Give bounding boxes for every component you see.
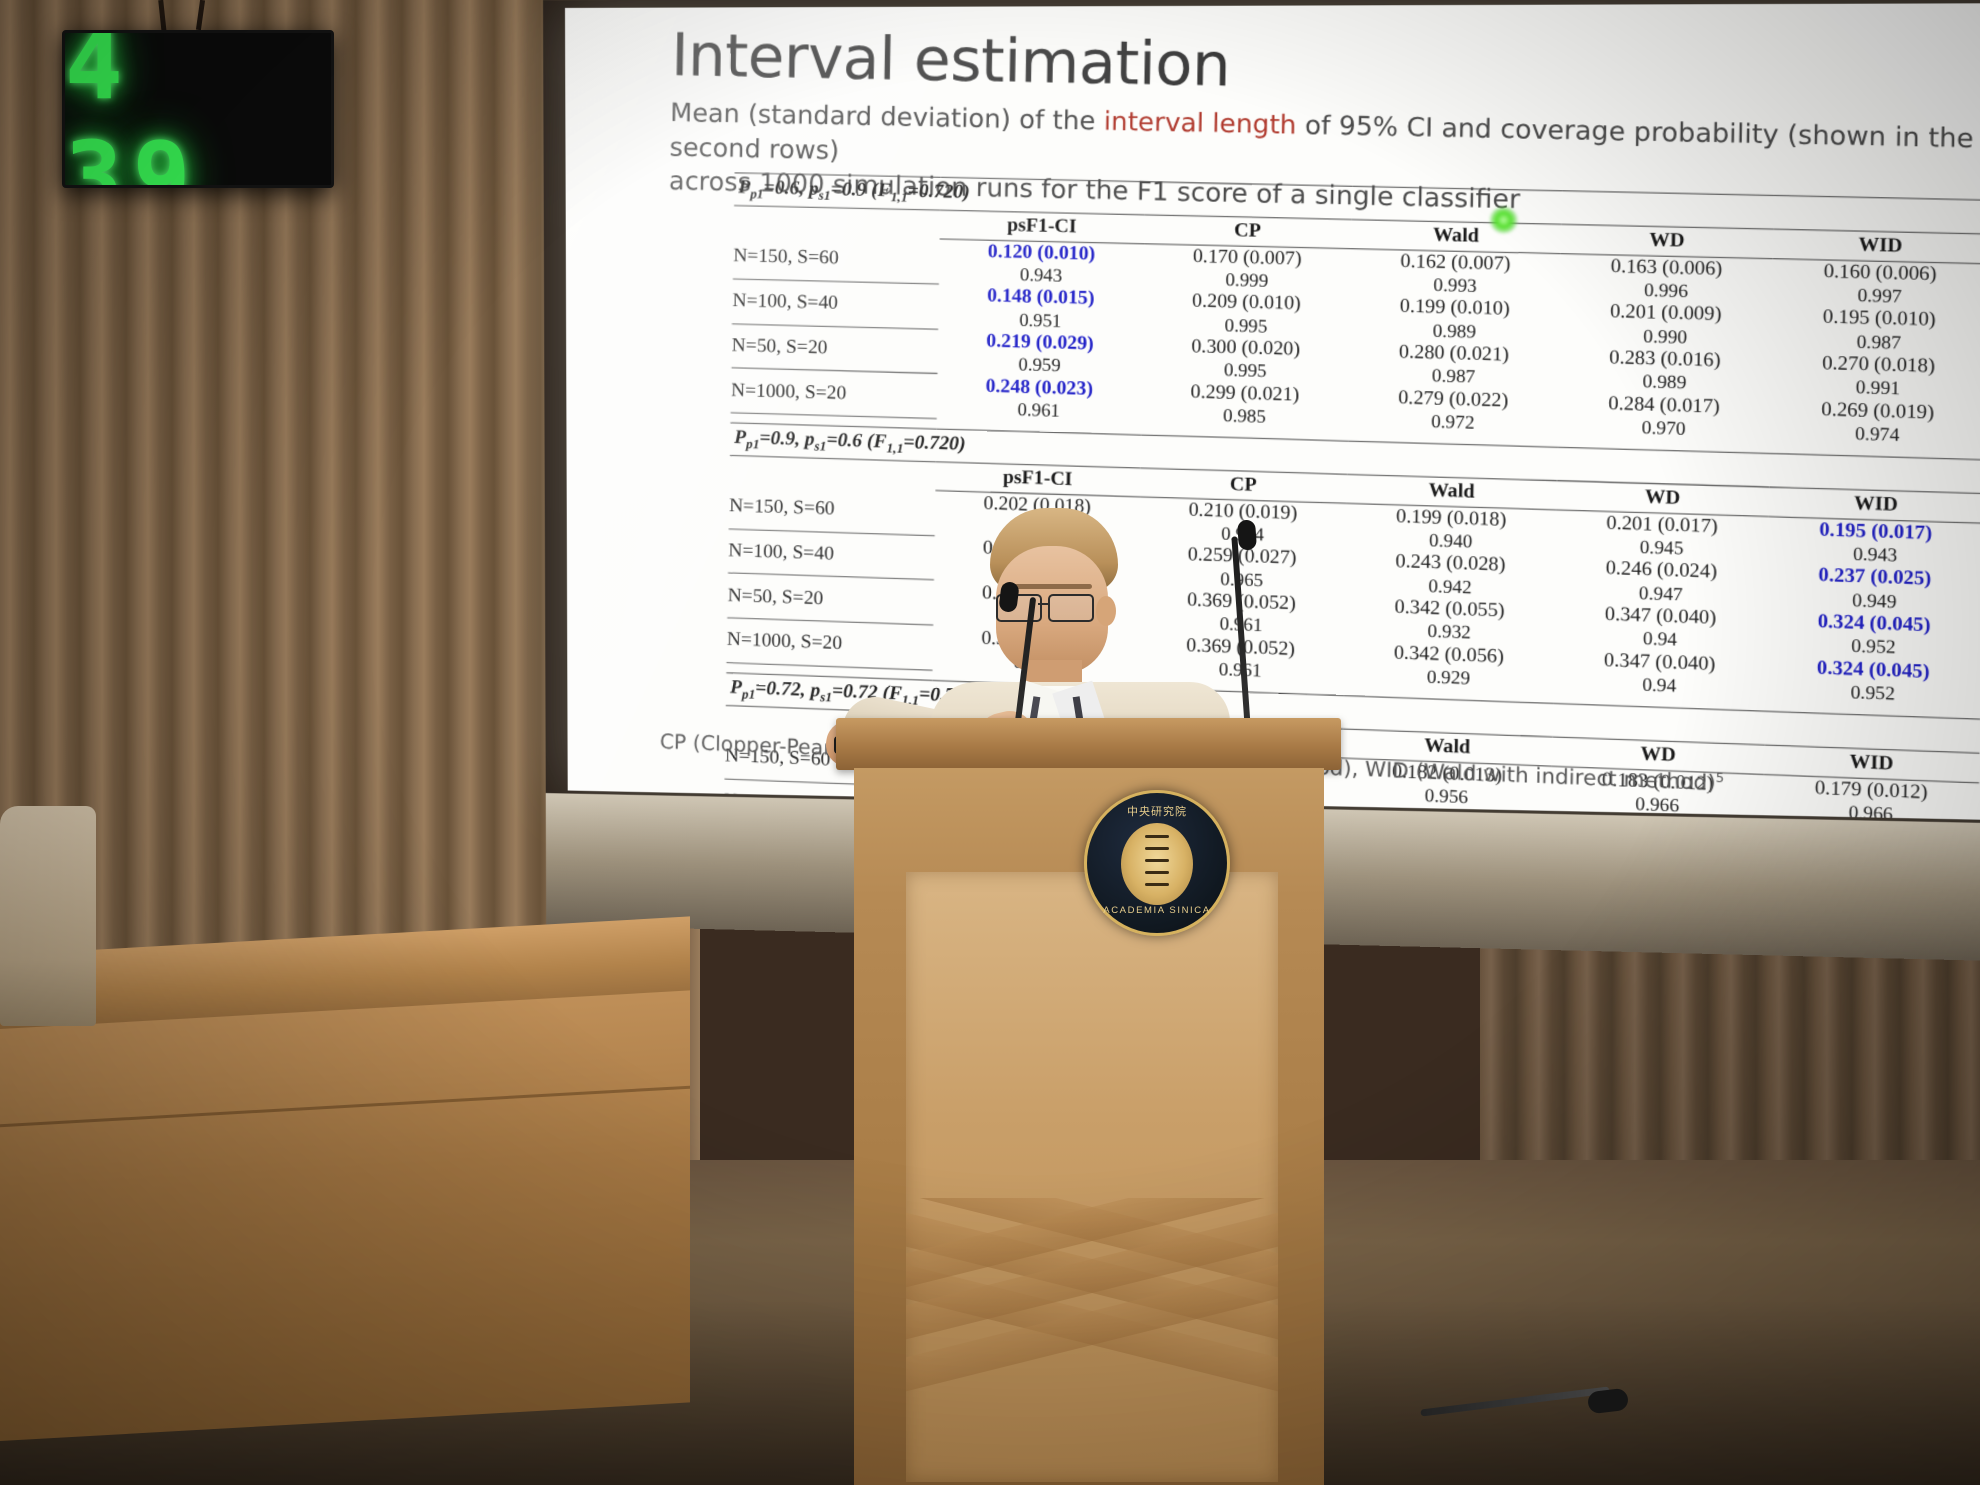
logo-chinese-name: 中央研究院 bbox=[1087, 803, 1227, 819]
cell-wd: 0.201 (0.009)0.990 bbox=[1559, 300, 1772, 351]
laser-pointer-dot bbox=[1490, 207, 1518, 234]
floor-microphone bbox=[1420, 1390, 1610, 1414]
cell-wid: 0.160 (0.006)0.997 bbox=[1772, 258, 1980, 310]
timer-face: 4 39 bbox=[65, 61, 331, 181]
cell-wid: 0.324 (0.045)0.952 bbox=[1766, 609, 1980, 663]
cell-wid: 0.324 (0.045)0.952 bbox=[1765, 655, 1980, 709]
row-label: N=100, S=40 bbox=[732, 279, 939, 329]
group-heading-text: Pp1=0.6, ps1=0.9 (F1,1=0.720) bbox=[738, 176, 970, 203]
eyeglasses-right-lens bbox=[1048, 594, 1094, 622]
cell-wald: 0.342 (0.055)0.932 bbox=[1345, 594, 1555, 647]
cell-wd: 0.246 (0.024)0.947 bbox=[1555, 556, 1768, 609]
dna-rung bbox=[1145, 883, 1169, 886]
footnote-superscript: 5 bbox=[1716, 770, 1725, 785]
group-heading-text: Pp1=0.9, ps1=0.6 (F1,1=0.720) bbox=[734, 426, 966, 454]
cell-wd: 0.283 (0.016)0.989 bbox=[1558, 345, 1771, 397]
cell-wid: 0.270 (0.018)0.991 bbox=[1771, 351, 1980, 403]
cell-wd: 0.284 (0.017)0.970 bbox=[1558, 391, 1771, 443]
cell-wald: 0.243 (0.028)0.942 bbox=[1345, 549, 1555, 601]
cell-wd: 0.347 (0.040)0.94 bbox=[1554, 601, 1767, 654]
dna-rung bbox=[1145, 871, 1169, 874]
row-label: N=1000, S=20 bbox=[731, 368, 938, 419]
cell-wd: 0.163 (0.006)0.996 bbox=[1560, 253, 1773, 304]
desk-front-face bbox=[0, 982, 690, 1441]
academia-sinica-logo: 中央研究院 ACADEMIA SINICA bbox=[1084, 790, 1230, 936]
cell-wald: 0.199 (0.010)0.989 bbox=[1350, 294, 1560, 345]
dna-icon bbox=[1145, 831, 1169, 897]
cell-wald: 0.279 (0.022)0.972 bbox=[1348, 385, 1558, 436]
cell-wid: 0.269 (0.019)0.974 bbox=[1770, 397, 1980, 449]
countdown-timer: 4 39 bbox=[62, 30, 334, 188]
timer-digits: 4 39 bbox=[65, 30, 331, 188]
cell-wald: 0.342 (0.056)0.929 bbox=[1344, 640, 1554, 693]
lecture-hall-photo: 4 39 Interval estimation Mean (standard … bbox=[0, 0, 1980, 1485]
dna-rung bbox=[1145, 847, 1169, 850]
dna-rung bbox=[1145, 859, 1169, 862]
cell-psf1-ci: 0.120 (0.010)0.943 bbox=[939, 239, 1144, 289]
floor-microphone-stem bbox=[1420, 1386, 1609, 1416]
cell-wid: 0.237 (0.025)0.949 bbox=[1767, 563, 1980, 616]
cell-wid: 0.179 (0.012)0.966 bbox=[1763, 774, 1979, 821]
cell-psf1-ci: 0.219 (0.029)0.959 bbox=[937, 329, 1142, 379]
cell-psf1-ci: 0.148 (0.015)0.951 bbox=[938, 284, 1143, 334]
stage-chair bbox=[0, 806, 96, 1026]
subtitle-part-1: Mean (standard deviation) of the bbox=[670, 98, 1104, 136]
cell-cp: 0.300 (0.020)0.995 bbox=[1142, 334, 1350, 385]
row-label: N=50, S=20 bbox=[731, 323, 938, 373]
dna-rung bbox=[1145, 835, 1169, 838]
cell-psf1-ci: 0.248 (0.023)0.961 bbox=[937, 374, 1142, 425]
cell-cp: 0.299 (0.021)0.985 bbox=[1141, 379, 1349, 430]
cell-wald: 0.280 (0.021)0.987 bbox=[1349, 340, 1559, 391]
slide-title: Interval estimation bbox=[671, 20, 1231, 100]
lectern-top-surface bbox=[836, 718, 1341, 770]
second-microphone-capsule bbox=[1237, 519, 1257, 550]
cell-wd: 0.201 (0.017)0.945 bbox=[1556, 510, 1769, 563]
logo-english-name: ACADEMIA SINICA bbox=[1087, 905, 1227, 916]
cell-wd: 0.347 (0.040)0.94 bbox=[1553, 647, 1766, 700]
cell-cp: 0.209 (0.010)0.995 bbox=[1143, 289, 1351, 340]
cell-cp: 0.170 (0.007)0.999 bbox=[1143, 244, 1351, 295]
presentation-slide: Interval estimation Mean (standard devia… bbox=[565, 3, 1980, 821]
lectern-chevron-pattern bbox=[906, 1198, 1278, 1482]
lectern bbox=[836, 718, 1341, 1485]
row-label: N=150, S=60 bbox=[733, 234, 940, 284]
slide-content: Interval estimation Mean (standard devia… bbox=[565, 3, 1980, 821]
cell-wid: 0.195 (0.010)0.987 bbox=[1771, 305, 1980, 357]
subtitle-highlight: interval length bbox=[1104, 106, 1297, 140]
cell-wald: 0.162 (0.007)0.993 bbox=[1350, 248, 1560, 299]
cell-wid: 0.195 (0.017)0.943 bbox=[1768, 516, 1980, 569]
foreground-desk bbox=[0, 955, 690, 1485]
cell-wald: 0.199 (0.018)0.940 bbox=[1346, 503, 1556, 556]
